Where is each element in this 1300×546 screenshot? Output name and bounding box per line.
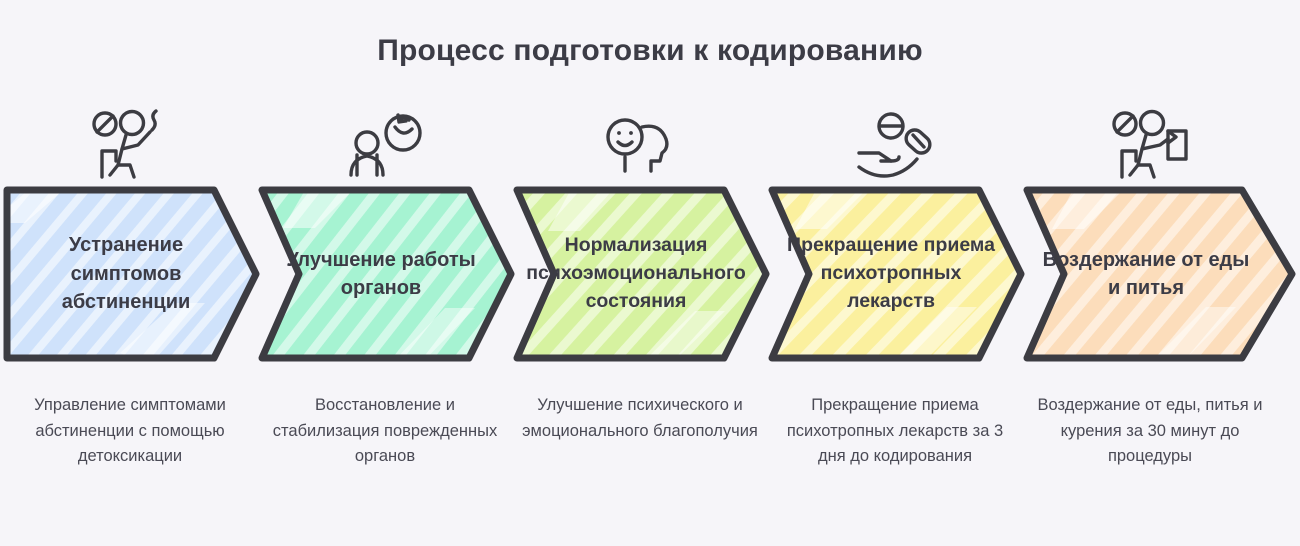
no-drinking-person-icon [0,105,260,183]
step-caption-3: Улучшение психического и эмоционального … [516,393,764,444]
page-title: Процесс подготовки к кодированию [0,34,1300,68]
step-arrow-shape-3 [510,183,800,365]
no-eating-person-icon [1020,105,1280,183]
step-caption-5: Воздержание от еды, питья и курения за 3… [1026,393,1274,470]
step-caption-2: Восстановление и стабилизация поврежденн… [261,393,509,470]
process-steps-row: Устранение симптомов абстиненции Управле… [0,105,1300,535]
smiley-head-profile-icon [510,105,770,183]
step-arrow-shape-4 [765,183,1055,365]
step-caption-1: Управление симптомами абстиненции с помо… [6,393,254,470]
hand-holding-pills-icon [765,105,1025,183]
person-recovery-refresh-icon [255,105,515,183]
process-step-2[interactable]: Улучшение работы органов Восстановление … [255,105,515,535]
process-step-4[interactable]: Прекращение приема психотропных лекарств… [765,105,1025,535]
process-step-3[interactable]: Нормализация психоэмоционального состоян… [510,105,770,535]
process-step-1[interactable]: Устранение симптомов абстиненции Управле… [0,105,260,535]
step-arrow-shape-1 [0,183,290,365]
step-arrow-shape-2 [255,183,545,365]
process-step-5[interactable]: Воздержание от еды и питья Воздержание о… [1020,105,1280,535]
infographic-root: Процесс подготовки к кодированию [0,0,1300,546]
step-caption-4: Прекращение приема психотропных лекарств… [771,393,1019,470]
step-arrow-shape-5 [1020,183,1300,365]
